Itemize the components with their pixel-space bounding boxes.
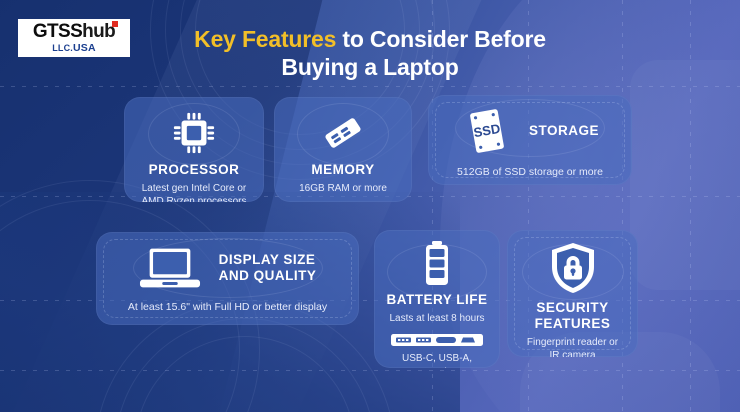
battery-icon bbox=[417, 239, 457, 287]
card-description: Lasts at least 8 hours bbox=[389, 312, 484, 326]
ssd-drive-icon: SSD bbox=[461, 105, 513, 157]
page-title: Key Features to Consider Before Buying a… bbox=[140, 26, 600, 81]
shield-lock-icon bbox=[548, 241, 598, 295]
card-description: At least 15.6" with Full HD or better di… bbox=[128, 300, 327, 314]
card-title: SECURITY FEATURES bbox=[535, 300, 611, 332]
card-title: MEMORY bbox=[311, 162, 374, 178]
card-description: Fingerprint reader or IR camera bbox=[527, 336, 618, 357]
title-accent-text: Key Features bbox=[194, 26, 336, 52]
card-title: BATTERY LIFE bbox=[386, 292, 487, 308]
background-blob-right bbox=[630, 60, 740, 290]
card-title: PROCESSOR bbox=[149, 162, 240, 178]
logo-gtss-text: GTSS bbox=[33, 21, 82, 42]
background-gridline-h1 bbox=[0, 86, 740, 87]
cpu-chip-icon bbox=[171, 110, 217, 156]
card-description: 16GB RAM or more bbox=[299, 182, 387, 196]
infographic-poster: GTSShub LLC.USA Key Features to Consider… bbox=[0, 0, 740, 412]
card-description: Latest gen Intel Core or AMD Ryzen proce… bbox=[141, 182, 246, 202]
red-square-icon bbox=[112, 21, 118, 27]
logo-llc-text: LLC. bbox=[52, 43, 73, 53]
card-title: STORAGE bbox=[529, 123, 599, 139]
brand-logo[interactable]: GTSShub LLC.USA bbox=[18, 19, 130, 57]
background-gridline-v4 bbox=[690, 0, 691, 412]
feature-card-security[interactable]: SECURITY FEATURES Fingerprint reader or … bbox=[507, 230, 638, 357]
feature-card-processor[interactable]: PROCESSOR Latest gen Intel Core or AMD R… bbox=[124, 97, 264, 202]
title-line-1: Key Features to Consider Before bbox=[140, 26, 600, 54]
feature-card-storage[interactable]: SSD STORAGE 512GB of SSD storage or more bbox=[428, 95, 632, 185]
title-line-2: Buying a Laptop bbox=[140, 54, 600, 82]
ports-description: USB-C, USB-A, HDMI and more bbox=[402, 352, 473, 368]
logo-wordmark: GTSShub bbox=[33, 22, 115, 41]
laptop-icon bbox=[139, 244, 201, 292]
logo-hub-text: hub bbox=[82, 21, 115, 42]
background-gridline-h4 bbox=[0, 370, 740, 371]
card-title: DISPLAY SIZE AND QUALITY bbox=[219, 252, 317, 284]
title-rest-text: to Consider Before bbox=[336, 26, 546, 52]
card-description: 512GB of SSD storage or more bbox=[457, 165, 603, 179]
feature-card-battery[interactable]: BATTERY LIFE Lasts at least 8 hours bbox=[374, 230, 500, 368]
logo-usa-text: USA bbox=[73, 42, 96, 54]
feature-card-display[interactable]: DISPLAY SIZE AND QUALITY At least 15.6" … bbox=[96, 232, 359, 325]
ram-stick-icon bbox=[320, 110, 366, 156]
feature-card-memory[interactable]: MEMORY 16GB RAM or more bbox=[274, 97, 412, 202]
ports-bar-icon bbox=[391, 332, 483, 348]
logo-subtext: LLC.USA bbox=[52, 43, 96, 54]
